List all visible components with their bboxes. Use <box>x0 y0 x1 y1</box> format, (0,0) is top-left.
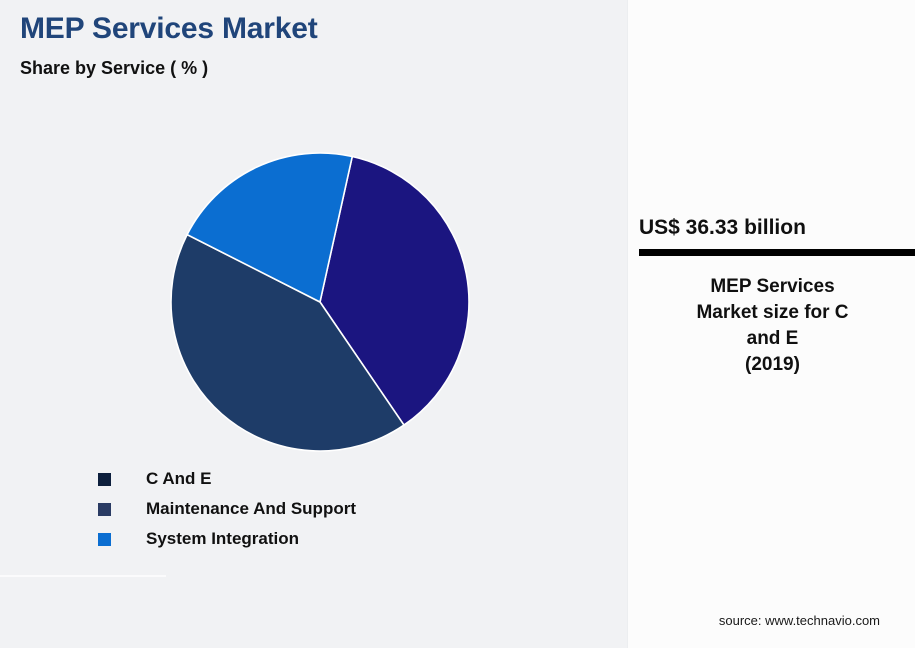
kpi-caption-line: and E <box>646 326 899 352</box>
chart-subtitle: Share by Service ( % ) <box>20 58 208 79</box>
pie-chart <box>170 152 470 452</box>
chart-left-panel: MEP Services Market Share by Service ( %… <box>0 0 627 648</box>
kpi-value: US$ 36.33 billion <box>639 216 915 240</box>
legend-item-c-and-e[interactable]: C And E <box>98 464 356 494</box>
legend-item-system-integration[interactable]: System Integration <box>98 524 356 554</box>
chart-legend: C And E Maintenance And Support System I… <box>98 464 356 554</box>
source-note: source: www.technavio.com <box>628 613 915 628</box>
kpi-caption-line: (2019) <box>646 352 899 378</box>
page-title: MEP Services Market <box>20 12 318 46</box>
legend-swatch-icon <box>98 533 111 546</box>
divider-line <box>0 575 166 577</box>
kpi-caption-line: Market size for C <box>646 300 899 326</box>
kpi-divider <box>639 249 915 256</box>
kpi-panel: US$ 36.33 billion MEP Services Market si… <box>627 0 915 648</box>
legend-item-label: System Integration <box>146 529 299 549</box>
legend-swatch-icon <box>98 473 111 486</box>
legend-item-label: C And E <box>146 469 211 489</box>
legend-swatch-icon <box>98 503 111 516</box>
legend-item-maintenance-and-support[interactable]: Maintenance And Support <box>98 494 356 524</box>
legend-item-label: Maintenance And Support <box>146 499 356 519</box>
kpi-caption-line: MEP Services <box>646 274 899 300</box>
kpi-caption: MEP Services Market size for C and E (20… <box>646 274 899 378</box>
chart-canvas: MEP Services Market Share by Service ( %… <box>0 0 915 648</box>
